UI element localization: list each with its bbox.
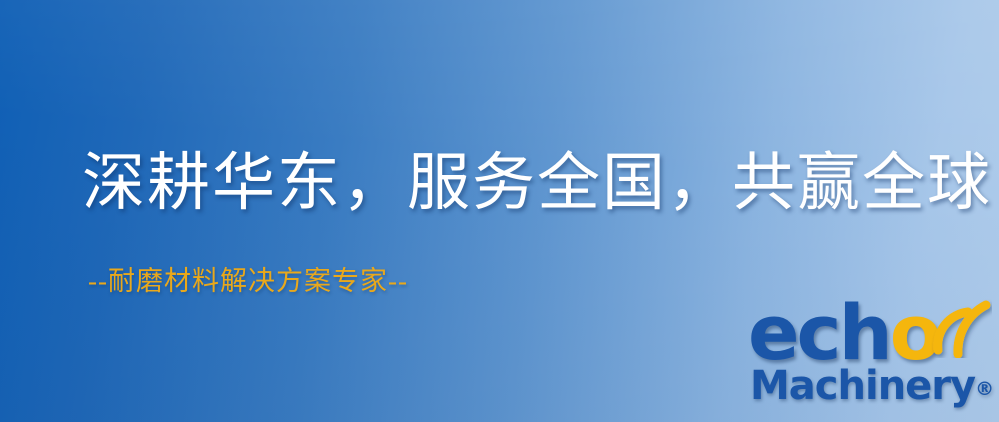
logo-wordmark: ech o xyxy=(748,300,940,372)
registered-trademark-icon: ® xyxy=(975,378,994,400)
logo-tagline: Machinery® xyxy=(750,366,994,406)
echo-machinery-logo: ech o Machinery® xyxy=(748,300,996,418)
promo-banner: 深耕华东，服务全国，共赢全球 --耐磨材料解决方案专家-- ech o Mach… xyxy=(0,0,999,422)
logo-tagline-text: Machinery xyxy=(750,363,975,409)
banner-headline: 深耕华东，服务全国，共赢全球 xyxy=(82,152,992,215)
signal-arcs-icon xyxy=(924,296,992,358)
banner-subheadline: --耐磨材料解决方案专家-- xyxy=(88,268,408,295)
logo-text-ech: ech xyxy=(748,300,890,365)
